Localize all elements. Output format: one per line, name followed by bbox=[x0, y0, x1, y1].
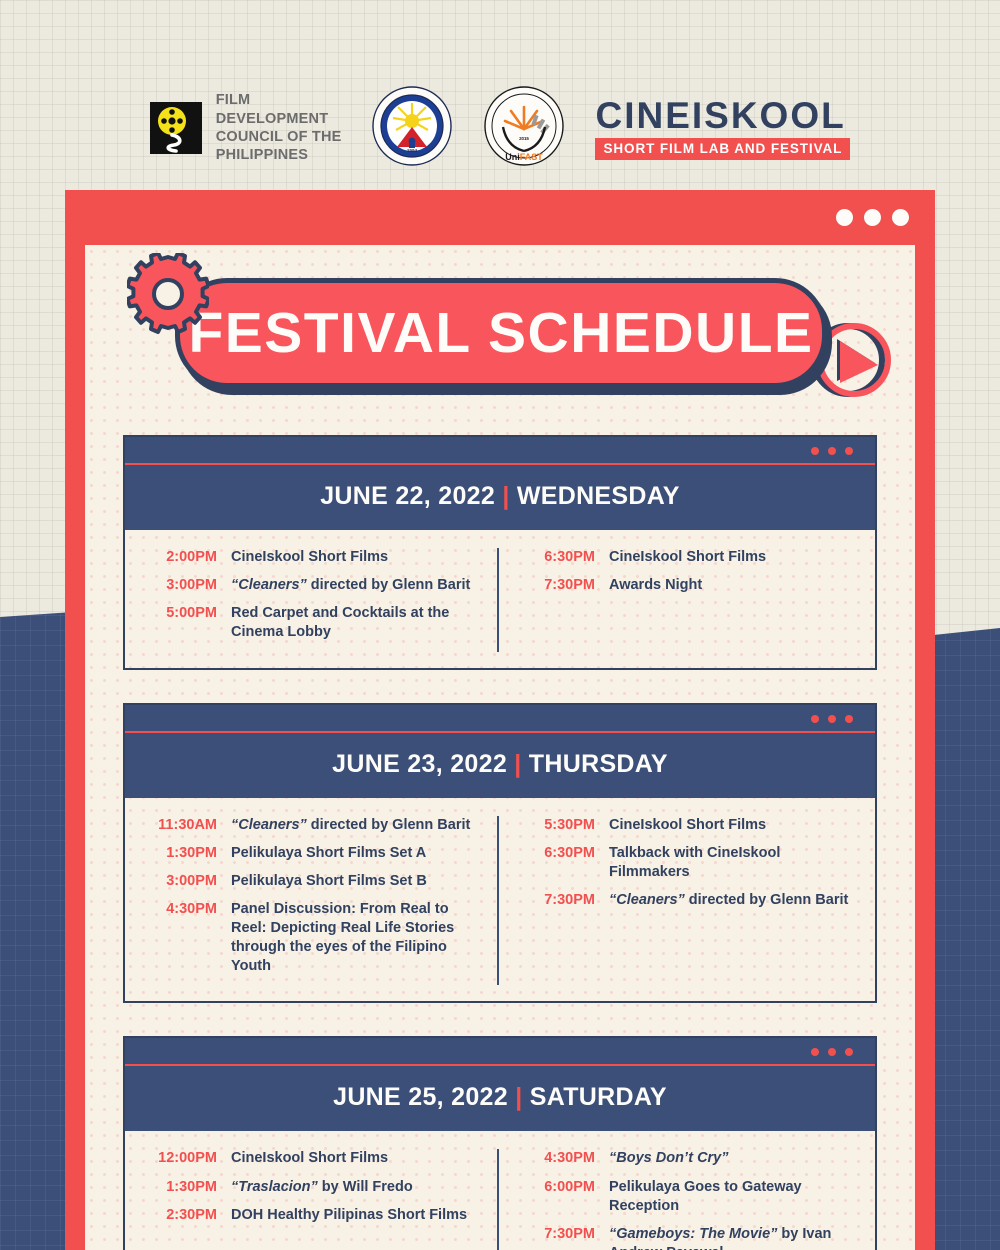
window-dot-3[interactable] bbox=[892, 209, 909, 226]
day-weekday: SATURDAY bbox=[523, 1083, 667, 1111]
day-card-dots bbox=[125, 1048, 875, 1064]
window-dot-2[interactable] bbox=[864, 209, 881, 226]
schedule-event: “Cleaners” directed by Glenn Barit bbox=[231, 576, 470, 595]
schedule-row: 5:30PMCineIskool Short Films bbox=[523, 816, 859, 835]
schedule-row: 7:30PMAwards Night bbox=[523, 576, 859, 595]
card-dot bbox=[811, 1048, 819, 1056]
schedule-row: 3:00PM“Cleaners” directed by Glenn Barit bbox=[145, 576, 481, 595]
card-dot bbox=[845, 447, 853, 455]
day-body: 12:00PMCineIskool Short Films1:30PM“Tras… bbox=[125, 1131, 875, 1250]
day-card: JUNE 22, 2022 | WEDNESDAY2:00PMCineIskoo… bbox=[123, 435, 877, 670]
window-content: FESTIVAL SCHEDULE JUNE 22, 2022 | WEDNES… bbox=[85, 245, 915, 1250]
svg-text:UniFAST: UniFAST bbox=[506, 152, 544, 162]
schedule-row: 2:00PMCineIskool Short Films bbox=[145, 548, 481, 567]
window-dot-1[interactable] bbox=[836, 209, 853, 226]
day-column-left: 11:30AM“Cleaners” directed by Glenn Bari… bbox=[125, 816, 497, 986]
day-header: JUNE 23, 2022 | THURSDAY bbox=[125, 705, 875, 798]
day-card: JUNE 25, 2022 | SATURDAY12:00PMCineIskoo… bbox=[123, 1036, 877, 1250]
svg-text:2015: 2015 bbox=[520, 136, 530, 141]
schedule-list: JUNE 22, 2022 | WEDNESDAY2:00PMCineIskoo… bbox=[85, 435, 915, 1250]
card-dot bbox=[811, 447, 819, 455]
schedule-event: CineIskool Short Films bbox=[609, 816, 766, 835]
day-column-right: 4:30PM“Boys Don’t Cry”6:00PMPelikulaya G… bbox=[497, 1149, 875, 1250]
schedule-row: 12:00PMCineIskool Short Films bbox=[145, 1149, 481, 1168]
schedule-event: Pelikulaya Short Films Set A bbox=[231, 844, 426, 863]
fdcp-line-2: DEVELOPMENT bbox=[216, 110, 342, 128]
page-title: FESTIVAL SCHEDULE bbox=[188, 300, 813, 366]
day-title: JUNE 22, 2022 | WEDNESDAY bbox=[125, 465, 875, 530]
schedule-time: 4:30PM bbox=[145, 900, 231, 977]
schedule-row: 4:30PM“Boys Don’t Cry” bbox=[523, 1149, 859, 1168]
window-titlebar bbox=[65, 190, 935, 245]
day-header: JUNE 22, 2022 | WEDNESDAY bbox=[125, 437, 875, 530]
schedule-event: Red Carpet and Cocktails at the Cinema L… bbox=[231, 604, 481, 642]
schedule-time: 5:00PM bbox=[145, 604, 231, 642]
schedule-time: 3:00PM bbox=[145, 872, 231, 891]
cineiskool-wordmark: CINEISKOOL bbox=[595, 97, 850, 134]
fdcp-logo: FILM DEVELOPMENT COUNCIL OF THE PHILIPPI… bbox=[150, 91, 342, 164]
schedule-event: Panel Discussion: From Real to Reel: Dep… bbox=[231, 900, 481, 977]
schedule-event: Talkback with CineIskool Filmmakers bbox=[609, 844, 859, 882]
schedule-row: 6:00PMPelikulaya Goes to Gateway Recepti… bbox=[523, 1178, 859, 1216]
day-column-left: 2:00PMCineIskool Short Films3:00PM“Clean… bbox=[125, 548, 497, 652]
fdcp-line-4: PHILIPPINES bbox=[216, 146, 342, 164]
unifast-seal-icon: 2015 UniFAST bbox=[483, 85, 565, 172]
card-dot bbox=[828, 447, 836, 455]
day-date: JUNE 23, 2022 bbox=[332, 750, 514, 778]
schedule-time: 1:30PM bbox=[145, 844, 231, 863]
day-title: JUNE 23, 2022 | THURSDAY bbox=[125, 733, 875, 798]
schedule-time: 6:30PM bbox=[523, 548, 609, 567]
schedule-row: 5:00PMRed Carpet and Cocktails at the Ci… bbox=[145, 604, 481, 642]
schedule-event: DOH Healthy Pilipinas Short Films bbox=[231, 1206, 467, 1225]
schedule-event: CineIskool Short Films bbox=[231, 548, 388, 567]
schedule-event: “Traslacion” by Will Fredo bbox=[231, 1178, 413, 1197]
schedule-event: Pelikulaya Short Films Set B bbox=[231, 872, 427, 891]
fdcp-line-3: COUNCIL OF THE bbox=[216, 128, 342, 146]
day-column-right: 6:30PMCineIskool Short Films7:30PMAwards… bbox=[497, 548, 875, 652]
day-body: 2:00PMCineIskool Short Films3:00PM“Clean… bbox=[125, 530, 875, 668]
schedule-time: 4:30PM bbox=[523, 1149, 609, 1168]
card-dot bbox=[845, 715, 853, 723]
logo-strip: FILM DEVELOPMENT COUNCIL OF THE PHILIPPI… bbox=[0, 78, 1000, 178]
schedule-time: 7:30PM bbox=[523, 1225, 609, 1250]
schedule-time: 5:30PM bbox=[523, 816, 609, 835]
day-card: JUNE 23, 2022 | THURSDAY11:30AM“Cleaners… bbox=[123, 703, 877, 1004]
day-separator: | bbox=[502, 482, 509, 510]
gear-icon bbox=[127, 253, 209, 335]
festival-schedule-poster: FILM DEVELOPMENT COUNCIL OF THE PHILIPPI… bbox=[0, 0, 1000, 1250]
day-date: JUNE 22, 2022 bbox=[320, 482, 502, 510]
day-title: JUNE 25, 2022 | SATURDAY bbox=[125, 1066, 875, 1131]
schedule-event: “Gameboys: The Movie” by Ivan Andrew Pay… bbox=[609, 1225, 859, 1250]
day-column-right: 5:30PMCineIskool Short Films6:30PMTalkba… bbox=[497, 816, 875, 986]
card-dot bbox=[845, 1048, 853, 1056]
schedule-row: 11:30AM“Cleaners” directed by Glenn Bari… bbox=[145, 816, 481, 835]
film-reel-icon bbox=[150, 102, 202, 154]
card-dot bbox=[828, 715, 836, 723]
schedule-time: 12:00PM bbox=[145, 1149, 231, 1168]
schedule-row: 6:30PMTalkback with CineIskool Filmmaker… bbox=[523, 844, 859, 882]
schedule-time: 2:30PM bbox=[145, 1206, 231, 1225]
schedule-event: CineIskool Short Films bbox=[609, 548, 766, 567]
schedule-event: CineIskool Short Films bbox=[231, 1149, 388, 1168]
schedule-time: 6:30PM bbox=[523, 844, 609, 882]
day-body: 11:30AM“Cleaners” directed by Glenn Bari… bbox=[125, 798, 875, 1002]
day-header: JUNE 25, 2022 | SATURDAY bbox=[125, 1038, 875, 1131]
day-card-dots bbox=[125, 447, 875, 463]
schedule-event: “Cleaners” directed by Glenn Barit bbox=[231, 816, 470, 835]
schedule-event: “Cleaners” directed by Glenn Barit bbox=[609, 891, 848, 910]
day-separator: | bbox=[515, 1083, 522, 1111]
schedule-row: 1:30PMPelikulaya Short Films Set A bbox=[145, 844, 481, 863]
fdcp-line-1: FILM bbox=[216, 91, 342, 109]
cineiskool-tagline: SHORT FILM LAB AND FESTIVAL bbox=[595, 138, 850, 160]
schedule-time: 7:30PM bbox=[523, 891, 609, 910]
schedule-row: 3:00PMPelikulaya Short Films Set B bbox=[145, 872, 481, 891]
day-column-left: 12:00PMCineIskool Short Films1:30PM“Tras… bbox=[125, 1149, 497, 1250]
schedule-row: 1:30PM“Traslacion” by Will Fredo bbox=[145, 1178, 481, 1197]
schedule-row: 6:30PMCineIskool Short Films bbox=[523, 548, 859, 567]
browser-window-card: FESTIVAL SCHEDULE JUNE 22, 2022 | WEDNES… bbox=[65, 190, 935, 1250]
day-separator: | bbox=[514, 750, 521, 778]
schedule-time: 3:00PM bbox=[145, 576, 231, 595]
day-date: JUNE 25, 2022 bbox=[333, 1083, 515, 1111]
day-card-dots bbox=[125, 715, 875, 731]
schedule-row: 7:30PM“Gameboys: The Movie” by Ivan Andr… bbox=[523, 1225, 859, 1250]
schedule-time: 2:00PM bbox=[145, 548, 231, 567]
schedule-event: Pelikulaya Goes to Gateway Reception bbox=[609, 1178, 859, 1216]
schedule-time: 6:00PM bbox=[523, 1178, 609, 1216]
fdcp-logo-text: FILM DEVELOPMENT COUNCIL OF THE PHILIPPI… bbox=[216, 91, 342, 164]
card-dot bbox=[828, 1048, 836, 1056]
schedule-row: 4:30PMPanel Discussion: From Real to Ree… bbox=[145, 900, 481, 977]
cineiskool-logo: CINEISKOOL SHORT FILM LAB AND FESTIVAL bbox=[595, 97, 850, 160]
schedule-row: 7:30PM“Cleaners” directed by Glenn Barit bbox=[523, 891, 859, 910]
svg-text:1994: 1994 bbox=[407, 148, 418, 153]
schedule-event: Awards Night bbox=[609, 576, 702, 595]
schedule-time: 7:30PM bbox=[523, 576, 609, 595]
title-banner: FESTIVAL SCHEDULE bbox=[85, 245, 915, 435]
festival-schedule-title-pill: FESTIVAL SCHEDULE bbox=[175, 278, 827, 388]
schedule-time: 11:30AM bbox=[145, 816, 231, 835]
schedule-time: 1:30PM bbox=[145, 1178, 231, 1197]
day-weekday: WEDNESDAY bbox=[510, 482, 680, 510]
card-dot bbox=[811, 715, 819, 723]
ched-seal-icon: 1994 bbox=[371, 85, 453, 172]
day-weekday: THURSDAY bbox=[522, 750, 668, 778]
schedule-row: 2:30PMDOH Healthy Pilipinas Short Films bbox=[145, 1206, 481, 1225]
schedule-event: “Boys Don’t Cry” bbox=[609, 1149, 729, 1168]
